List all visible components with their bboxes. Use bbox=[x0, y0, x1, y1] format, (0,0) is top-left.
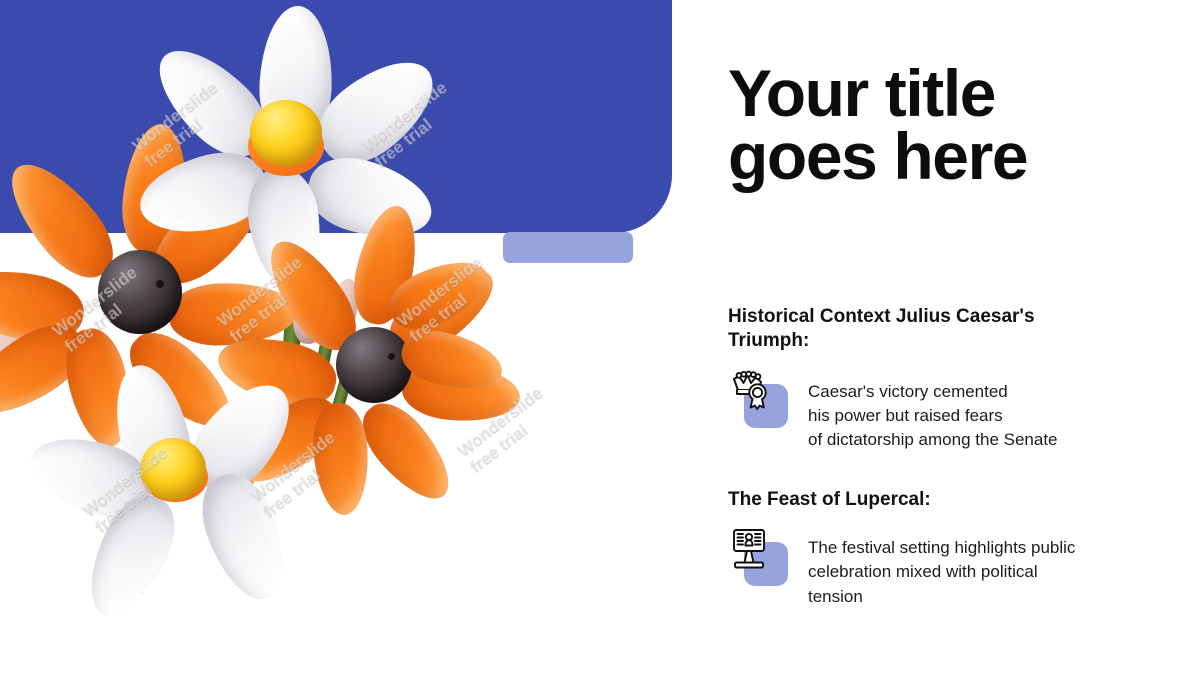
flower-center bbox=[336, 327, 412, 403]
section-body-text: Caesar's victory cemented his power but … bbox=[808, 366, 1058, 452]
flower-illustration bbox=[0, 10, 502, 590]
slide-canvas: Wonderslidefree trial Wonderslidefree tr… bbox=[0, 0, 1200, 675]
section-body-text: The festival setting highlights public c… bbox=[808, 524, 1075, 608]
content-column: Your titlegoes here Historical Context J… bbox=[728, 0, 1168, 675]
section-historical-context: Historical Context Julius Caesar's Trium… bbox=[728, 305, 1158, 452]
section-heading: The Feast of Lupercal: bbox=[728, 488, 1118, 512]
white-flower bbox=[82, 380, 332, 610]
section-heading: Historical Context Julius Caesar's Trium… bbox=[728, 305, 1118, 354]
lavender-accent-bar bbox=[503, 232, 633, 263]
flower-center bbox=[250, 100, 322, 166]
page-title: Your titlegoes here bbox=[728, 62, 1148, 189]
section-body-row: The festival setting highlights public c… bbox=[728, 524, 1158, 608]
flower-center bbox=[140, 438, 206, 500]
section-feast-of-lupercal: The Feast of Lupercal: bbox=[728, 488, 1158, 609]
crown-award-icon bbox=[728, 368, 778, 418]
icon-container bbox=[728, 526, 790, 588]
section-body-row: Caesar's victory cemented his power but … bbox=[728, 366, 1158, 452]
presentation-podium-icon bbox=[728, 526, 778, 576]
icon-container bbox=[728, 368, 790, 430]
flower-center-dot bbox=[388, 353, 395, 360]
flower-center-dot bbox=[156, 280, 164, 288]
flower-center bbox=[98, 250, 182, 334]
